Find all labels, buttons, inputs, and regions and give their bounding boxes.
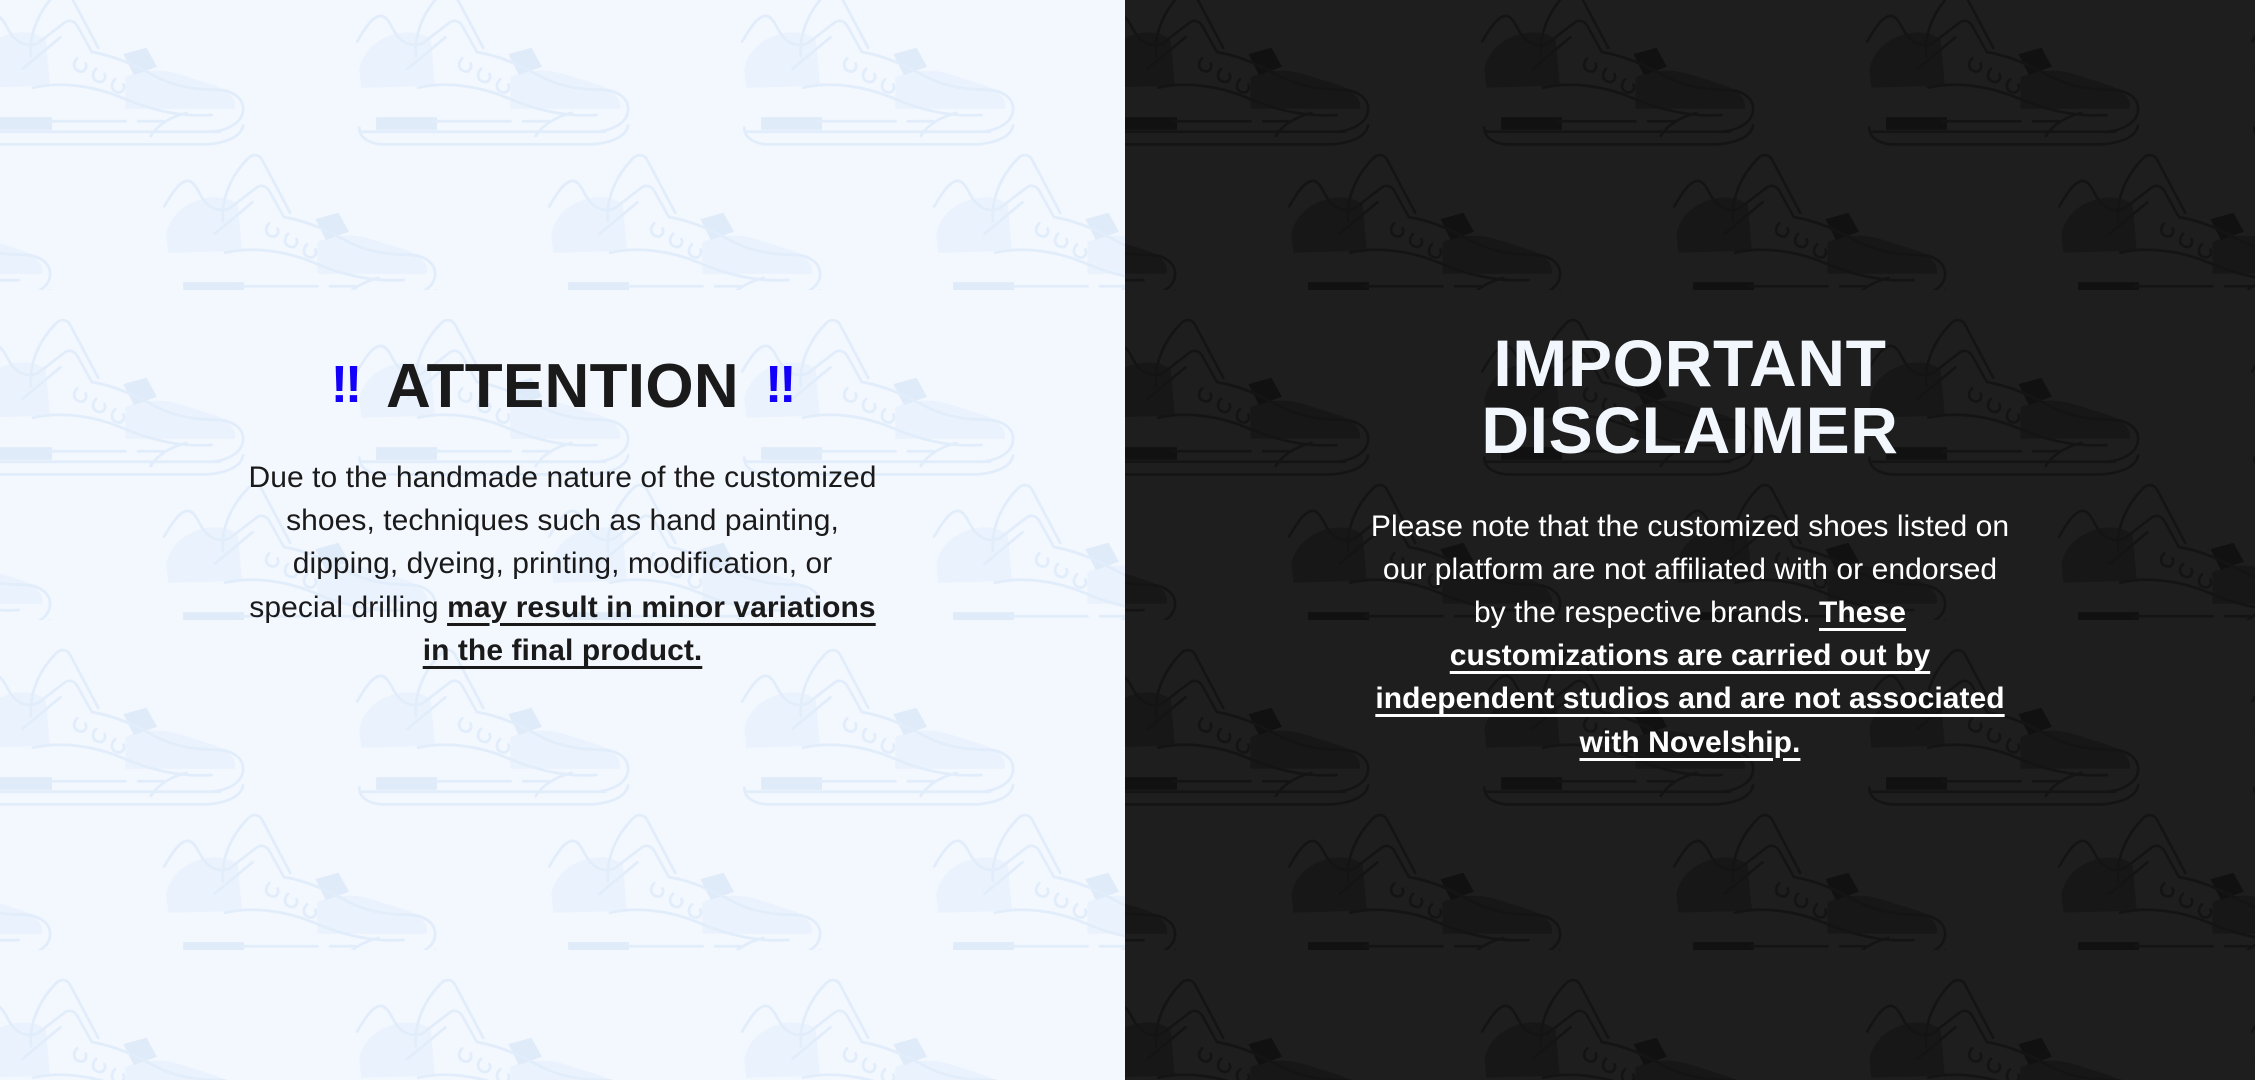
attention-headline-text: ATTENTION: [386, 356, 739, 418]
disclaimer-body-plain: Please note that the customized shoes li…: [1371, 510, 2009, 629]
disclaimer-body: Please note that the customized shoes li…: [1370, 505, 2010, 764]
attention-panel: ‼ ATTENTION ‼ Due to the handmade nature…: [0, 0, 1125, 1080]
disclaimer-panel: IMPORTANT DISCLAIMER Please note that th…: [1125, 0, 2255, 1080]
promo-banner: ‼ ATTENTION ‼ Due to the handmade nature…: [0, 0, 2255, 1080]
disclaimer-headline-line-1: IMPORTANT: [1493, 326, 1886, 400]
attention-body: Due to the handmade nature of the custom…: [243, 456, 883, 672]
attention-content: ‼ ATTENTION ‼ Due to the handmade nature…: [0, 0, 1125, 672]
double-exclamation-mark-icon-right: ‼: [765, 359, 794, 411]
attention-headline: ‼ ATTENTION ‼: [331, 356, 795, 418]
disclaimer-headline: IMPORTANT DISCLAIMER: [1481, 330, 1898, 465]
disclaimer-content: IMPORTANT DISCLAIMER Please note that th…: [1125, 0, 2255, 764]
attention-body-emphasis: may result in minor variations in the fi…: [423, 591, 876, 667]
double-exclamation-mark-icon-left: ‼: [331, 359, 360, 411]
disclaimer-headline-line-2: DISCLAIMER: [1481, 393, 1898, 467]
